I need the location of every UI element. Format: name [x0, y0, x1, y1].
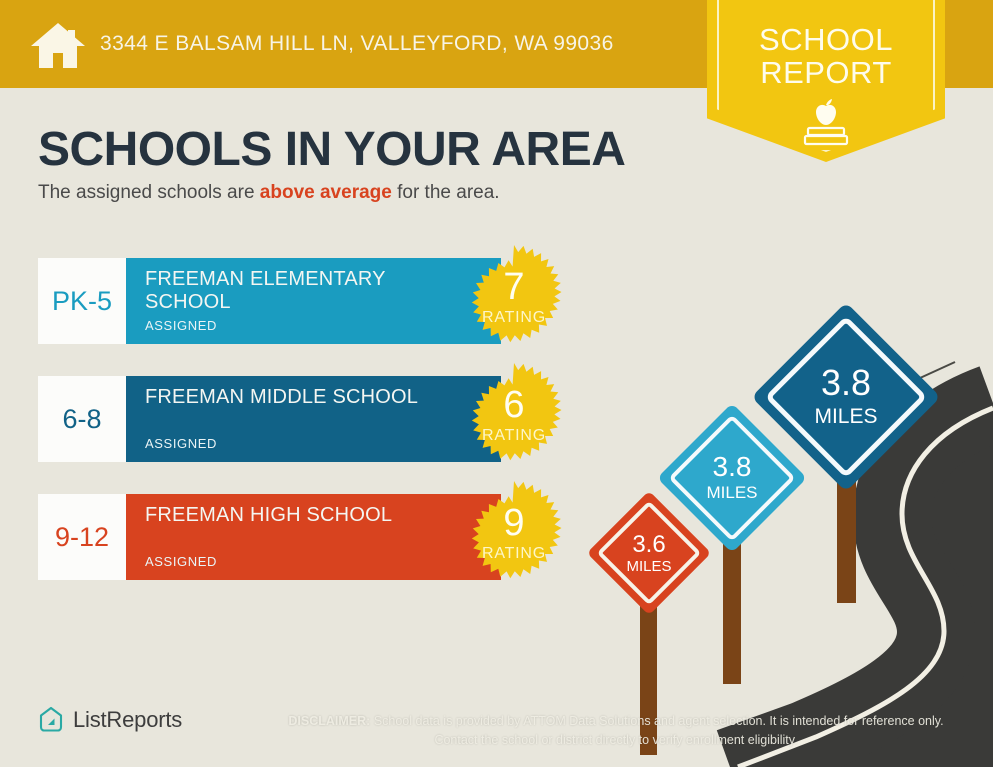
sign-distance: 3.8: [713, 451, 752, 482]
page-subtitle: The assigned schools are above average f…: [38, 182, 500, 204]
wire-line: [920, 362, 955, 378]
grade-range-label: PK-5: [52, 286, 112, 317]
listreports-house-pin-icon: [38, 706, 64, 733]
road-signs-illustration: 3.8 MILES 3.8 MILES 3.6 MILES: [580, 300, 993, 767]
disclaimer-text: DISCLAIMER: School data is provided by A…: [286, 712, 946, 751]
property-address: 3344 E BALSAM HILL LN, VALLEYFORD, WA 99…: [100, 32, 614, 56]
sign-post: [723, 530, 741, 684]
badge-line-1: SCHOOL: [707, 24, 945, 55]
assigned-label: ASSIGNED: [145, 318, 217, 333]
rating-value: 6: [457, 386, 571, 424]
disclaimer-body: School data is provided by ATTOM Data So…: [370, 714, 943, 747]
rating-label: RATING: [457, 546, 571, 562]
listreports-logo[interactable]: ListReports: [38, 706, 182, 733]
assigned-label: ASSIGNED: [145, 436, 217, 451]
school-name-bar: FREEMAN HIGH SCHOOL ASSIGNED: [126, 494, 501, 580]
subtitle-suffix: for the area.: [392, 182, 500, 203]
grade-range-box: 9-12: [38, 494, 126, 580]
school-name: FREEMAN ELEMENTARY SCHOOL: [145, 268, 445, 314]
listreports-wordmark: ListReports: [73, 707, 182, 733]
rating-starburst-badge: 6 RATING: [457, 362, 571, 476]
rating-starburst-badge: 7 RATING: [457, 244, 571, 358]
school-name-bar: FREEMAN MIDDLE SCHOOL ASSIGNED: [126, 376, 501, 462]
sign-distance: 3.6: [632, 531, 665, 558]
subtitle-prefix: The assigned schools are: [38, 182, 260, 203]
disclaimer-label: DISCLAIMER:: [288, 714, 370, 728]
grade-range-box: PK-5: [38, 258, 126, 344]
assigned-label: ASSIGNED: [145, 554, 217, 569]
school-report-badge: SCHOOL REPORT: [707, 0, 945, 162]
sign-unit: MILES: [626, 558, 671, 575]
sign-unit: MILES: [814, 405, 877, 428]
sign-unit: MILES: [706, 483, 757, 502]
rating-starburst-badge: 9 RATING: [457, 480, 571, 594]
school-report-infographic: 3344 E BALSAM HILL LN, VALLEYFORD, WA 99…: [0, 0, 993, 767]
rating-value: 9: [457, 504, 571, 542]
school-name: FREEMAN MIDDLE SCHOOL: [145, 386, 445, 409]
sign-distance: 3.8: [821, 362, 871, 403]
rating-value: 7: [457, 268, 571, 306]
road-scene-svg: 3.8 MILES 3.8 MILES 3.6 MILES: [580, 300, 993, 767]
rating-label: RATING: [457, 310, 571, 326]
school-name-bar: FREEMAN ELEMENTARY SCHOOL ASSIGNED: [126, 258, 501, 344]
grade-range-box: 6-8: [38, 376, 126, 462]
subtitle-highlight: above average: [260, 182, 392, 203]
grade-range-label: 6-8: [62, 404, 101, 435]
school-name: FREEMAN HIGH SCHOOL: [145, 504, 445, 527]
house-icon: [30, 20, 86, 70]
page-title: SCHOOLS IN YOUR AREA: [38, 122, 625, 177]
rating-label: RATING: [457, 428, 571, 444]
badge-line-2: REPORT: [707, 57, 945, 88]
grade-range-label: 9-12: [55, 522, 109, 553]
apple-on-books-icon: [796, 98, 856, 146]
